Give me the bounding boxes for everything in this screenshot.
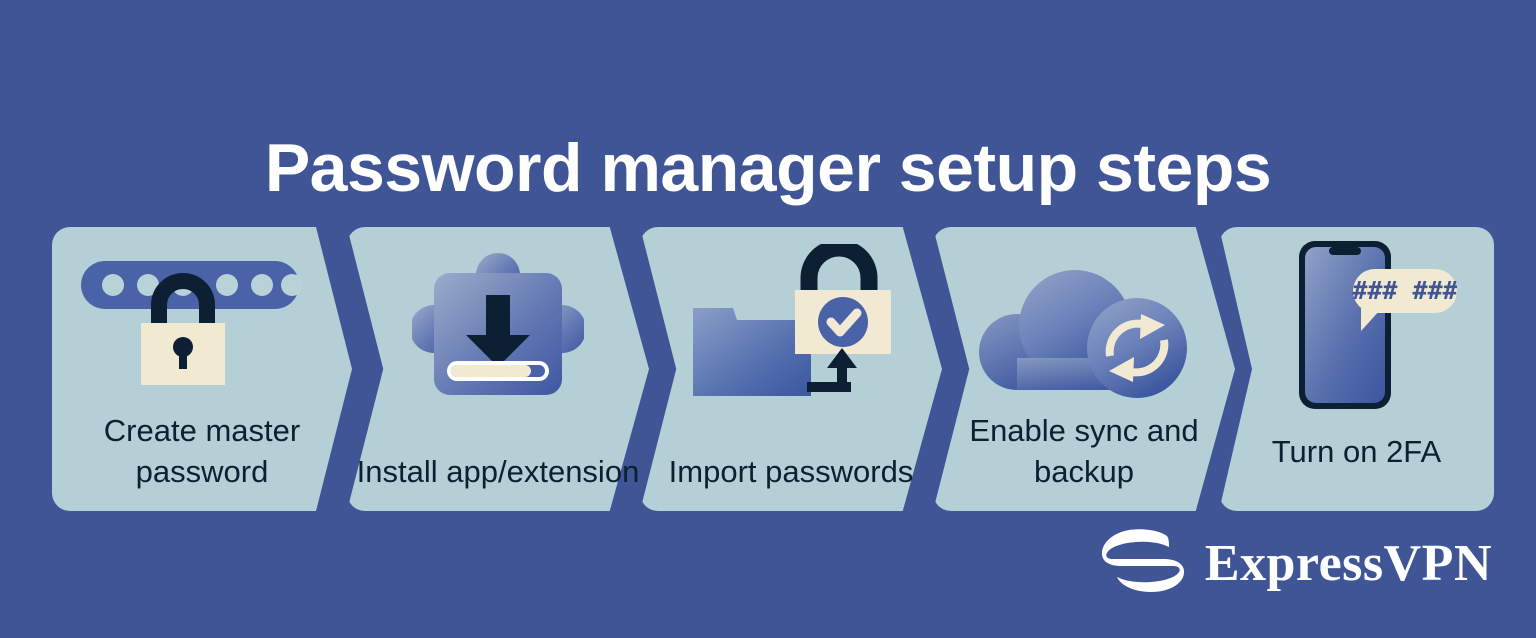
step-card-2[interactable]: Install app/extension [347, 227, 649, 511]
step-label-3: Import passwords [640, 451, 942, 493]
step-label-5: Turn on 2FA [1219, 431, 1494, 473]
step-icon-5: ### ### [1219, 235, 1494, 415]
password-dot [102, 274, 124, 296]
page-title: Password manager setup steps [0, 134, 1536, 202]
progress-bar [447, 361, 549, 381]
otp-code: ### ### [1352, 276, 1457, 305]
password-dot [251, 274, 273, 296]
phone-otp-message-icon: ### ### [1257, 235, 1457, 415]
step-card-4[interactable]: Enable sync and backup [933, 227, 1235, 511]
step-icon-3 [640, 241, 942, 407]
expressvpn-e-mark-icon [1099, 528, 1187, 600]
step-label-1: Create master password [52, 410, 352, 493]
password-dot [216, 274, 238, 296]
keyhole-stem [179, 349, 187, 369]
padlock-shackle [809, 248, 869, 296]
step-icon-2 [347, 245, 649, 411]
step-label-4: Enable sync and backup [933, 410, 1235, 493]
step-icon-4 [933, 247, 1235, 413]
phone-notch [1329, 247, 1361, 255]
import-arrow [807, 348, 857, 392]
password-dot [281, 274, 303, 296]
smartphone [1299, 241, 1391, 409]
folder [693, 308, 811, 396]
step-label-2: Install app/extension [347, 451, 649, 493]
step-card-5[interactable]: ### ### Turn on 2FA [1219, 227, 1494, 511]
step-card-3[interactable]: Import passwords [640, 227, 942, 511]
cloud-sync-icon [977, 260, 1192, 400]
expressvpn-logo[interactable]: ExpressVPN [1099, 528, 1492, 600]
folder-to-locked-vault-icon [689, 244, 894, 404]
sync-circle [1087, 298, 1187, 398]
steps-flow: Create master password [52, 227, 1494, 511]
expressvpn-wordmark: ExpressVPN [1205, 538, 1492, 590]
step-card-1[interactable]: Create master password [52, 227, 352, 511]
password-field-open-padlock-icon [75, 253, 305, 403]
step-icon-1 [40, 245, 340, 411]
puzzle-piece-download-icon [412, 253, 584, 403]
